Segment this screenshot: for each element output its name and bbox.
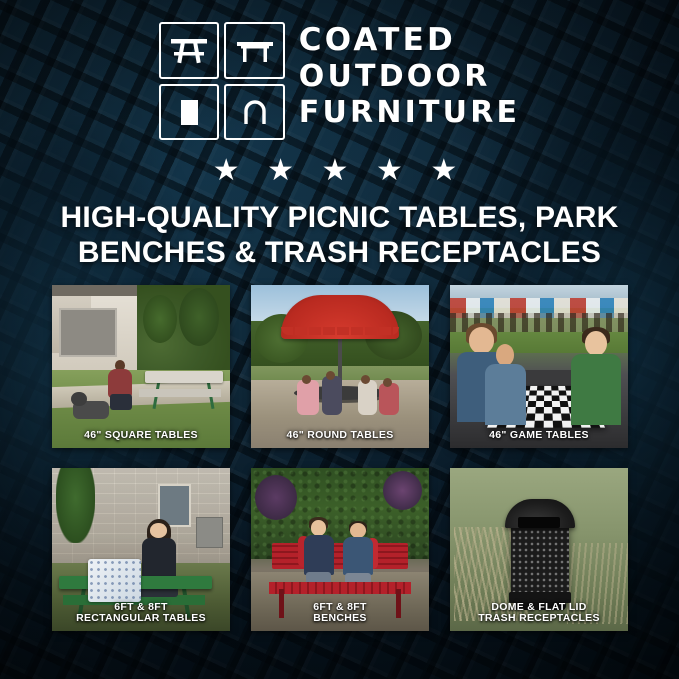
logo-icon-grid: [159, 22, 285, 140]
logo-wordmark: COATED OUTDOOR FURNITURE: [299, 22, 520, 128]
headline-line-1: HIGH-QUALITY PICNIC TABLES, PARK: [30, 200, 649, 235]
product-caption: 6FT & 8FT RECTANGULAR TABLES: [52, 602, 230, 626]
logo-word-furniture: FURNITURE: [299, 97, 520, 129]
logo-word-outdoor: OUTDOOR: [299, 61, 520, 93]
product-card-round-tables[interactable]: 46" ROUND TABLES: [251, 285, 429, 448]
product-banner-image: COATED OUTDOOR FURNITURE ★ ★ ★ ★ ★ HIGH-…: [0, 0, 679, 679]
star-rating: ★ ★ ★ ★ ★: [0, 156, 679, 186]
headline-line-2: BENCHES & TRASH RECEPTACLES: [30, 235, 649, 270]
product-caption: 46" SQUARE TABLES: [52, 430, 230, 442]
banner-content: COATED OUTDOOR FURNITURE ★ ★ ★ ★ ★ HIGH-…: [0, 0, 679, 679]
product-caption: 46" ROUND TABLES: [251, 430, 429, 442]
brand-logo: COATED OUTDOOR FURNITURE: [0, 22, 679, 140]
product-caption: 6FT & 8FT BENCHES: [251, 602, 429, 626]
park-bench-icon: [224, 22, 285, 79]
headline: HIGH-QUALITY PICNIC TABLES, PARK BENCHES…: [30, 200, 649, 270]
logo-word-coated: COATED: [299, 24, 520, 57]
photo-game-tables: [450, 285, 628, 448]
product-caption: DOME & FLAT LID TRASH RECEPTACLES: [450, 602, 628, 626]
product-card-game-tables[interactable]: 46" GAME TABLES: [450, 285, 628, 448]
arch-bench-icon: [224, 84, 285, 141]
photo-square-tables: [52, 285, 230, 448]
picnic-table-icon: [159, 22, 220, 79]
product-card-square-tables[interactable]: 46" SQUARE TABLES: [52, 285, 230, 448]
product-caption: 46" GAME TABLES: [450, 430, 628, 442]
photo-round-tables: [251, 285, 429, 448]
product-card-benches[interactable]: 6FT & 8FT BENCHES: [251, 468, 429, 631]
product-grid: 46" SQUARE TABLES 46" ROUND TABLES: [52, 285, 628, 631]
product-card-trash-receptacles[interactable]: DOME & FLAT LID TRASH RECEPTACLES: [450, 468, 628, 631]
product-card-rectangular-tables[interactable]: 6FT & 8FT RECTANGULAR TABLES: [52, 468, 230, 631]
trash-receptacle-icon: [159, 84, 220, 141]
